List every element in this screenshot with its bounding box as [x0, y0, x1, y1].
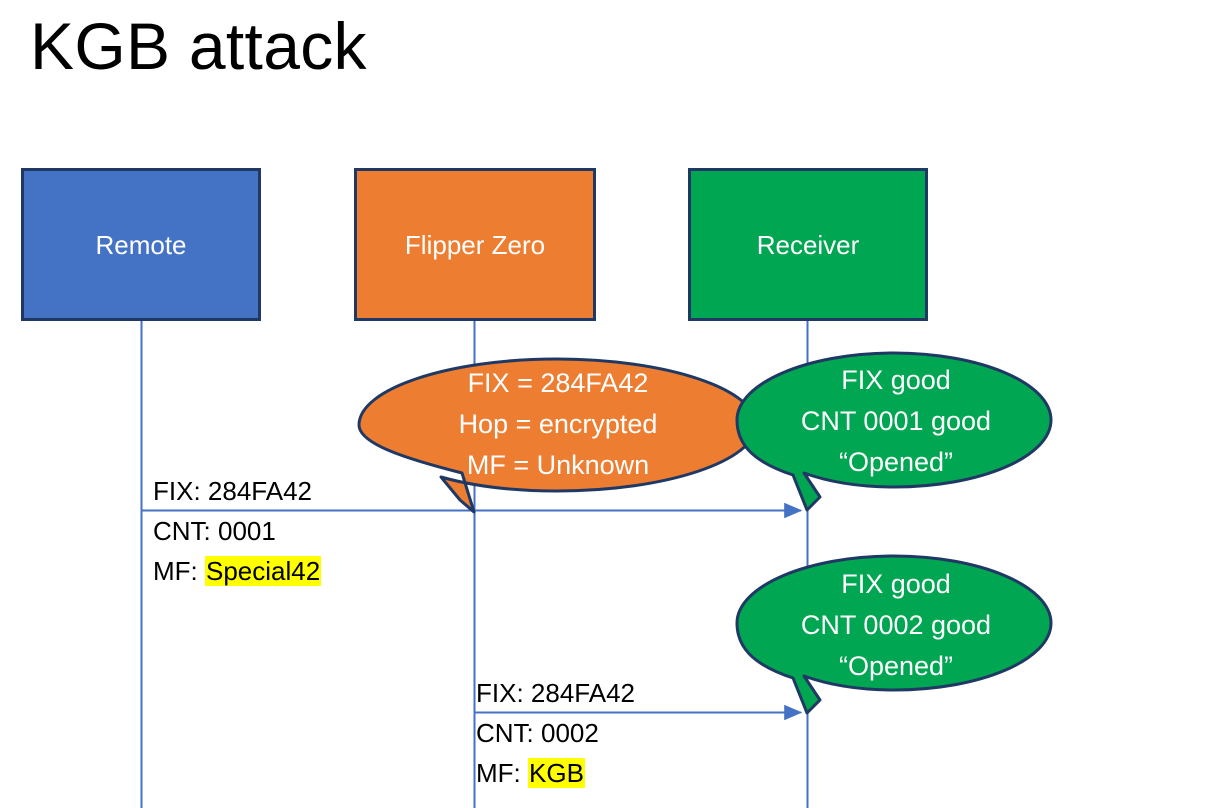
actor-box-remote[interactable]: Remote [21, 168, 261, 321]
message-1-labels: FIX: 284FA42 CNT: 0001 MF: Special42 [153, 471, 321, 591]
actor-label-remote: Remote [95, 230, 186, 260]
message-1-cnt-label: CNT: 0001 [153, 511, 321, 551]
message-2-fix-label: FIX: 284FA42 [476, 673, 635, 713]
message-1-mf-prefix: MF: [153, 556, 205, 586]
message-1-mf-value: Special42 [205, 556, 321, 586]
flipper-bubble-shape [359, 359, 756, 512]
message-2-mf-value: KGB [528, 758, 585, 788]
message-2-mf-label: MF: KGB [476, 753, 635, 793]
receiver-bubble-1-shape [737, 353, 1051, 510]
message-2-mf-prefix: MF: [476, 758, 528, 788]
message-1-mf-label: MF: Special42 [153, 551, 321, 591]
message-2-labels: FIX: 284FA42 CNT: 0002 MF: KGB [476, 673, 635, 793]
message-2-cnt-label: CNT: 0002 [476, 713, 635, 753]
actor-label-receiver: Receiver [757, 230, 860, 260]
slide-canvas: KGB attack Remote Fli [0, 0, 1218, 808]
actor-box-flipper-zero[interactable]: Flipper Zero [354, 168, 596, 321]
message-1-fix-label: FIX: 284FA42 [153, 471, 321, 511]
actor-box-receiver[interactable]: Receiver [688, 168, 928, 321]
receiver-bubble-2-shape [737, 556, 1051, 713]
actor-label-flipper-zero: Flipper Zero [405, 230, 545, 260]
